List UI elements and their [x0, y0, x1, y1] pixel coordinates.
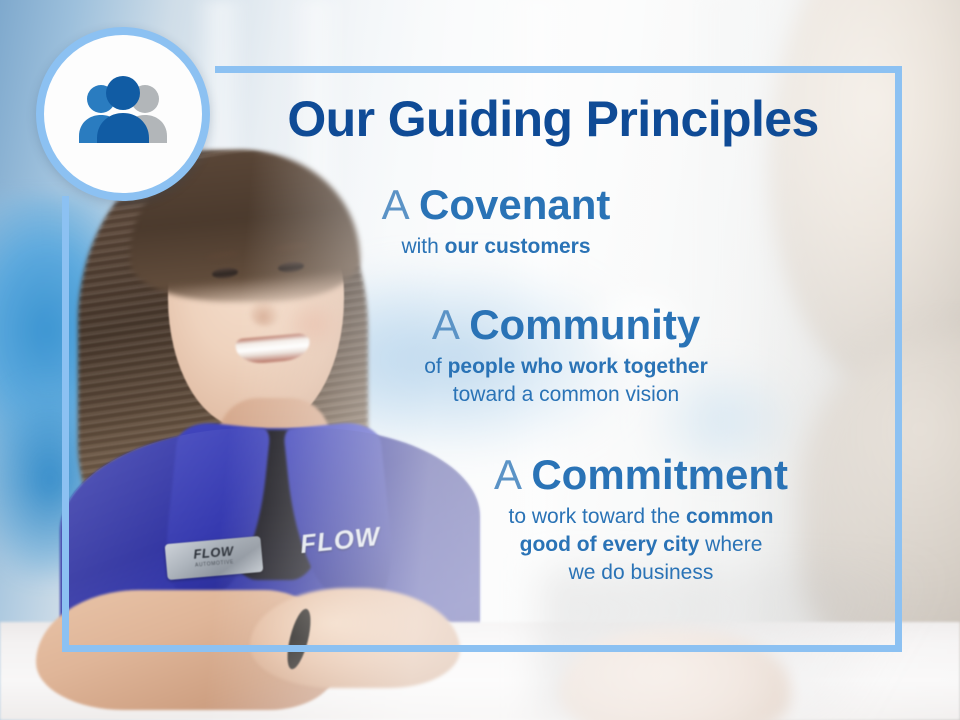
- subtext-line: of people who work together: [316, 353, 816, 381]
- principle-community-subtext: of people who work togethertoward a comm…: [316, 353, 816, 408]
- principle-commitment: A Commitment to work toward the commongo…: [386, 452, 896, 587]
- principle-community-heading: A Community: [316, 302, 816, 347]
- frame-border-bottom: [62, 645, 902, 652]
- promo-graphic: FLOW FLOW AUTOMOTIVE: [0, 0, 960, 720]
- subtext-line: good of every city where: [386, 531, 896, 559]
- frame-border-left: [62, 196, 69, 652]
- principle-community: A Community of people who work togethert…: [316, 302, 816, 409]
- principle-commitment-article: A: [494, 451, 520, 498]
- principle-commitment-subtext: to work toward the commongood of every c…: [386, 503, 896, 586]
- page-title: Our Guiding Principles: [70, 93, 896, 146]
- subtext-line: with our customers: [266, 233, 726, 261]
- principle-covenant-article: A: [382, 181, 408, 228]
- subtext-line: we do business: [386, 559, 896, 587]
- principle-commitment-heading: A Commitment: [386, 452, 896, 497]
- principle-community-word: Community: [469, 301, 700, 348]
- principle-covenant-heading: A Covenant: [266, 182, 726, 227]
- principle-covenant-word: Covenant: [419, 181, 610, 228]
- frame-border-right: [895, 66, 902, 652]
- subtext-line: toward a common vision: [316, 381, 816, 409]
- principle-community-article: A: [432, 301, 458, 348]
- principle-covenant-subtext: with our customers: [266, 233, 726, 261]
- content-area: Our Guiding Principles A Covenant with o…: [70, 66, 896, 646]
- subtext-line: to work toward the common: [386, 503, 896, 531]
- principle-commitment-word: Commitment: [531, 451, 788, 498]
- principle-covenant: A Covenant with our customers: [266, 182, 726, 261]
